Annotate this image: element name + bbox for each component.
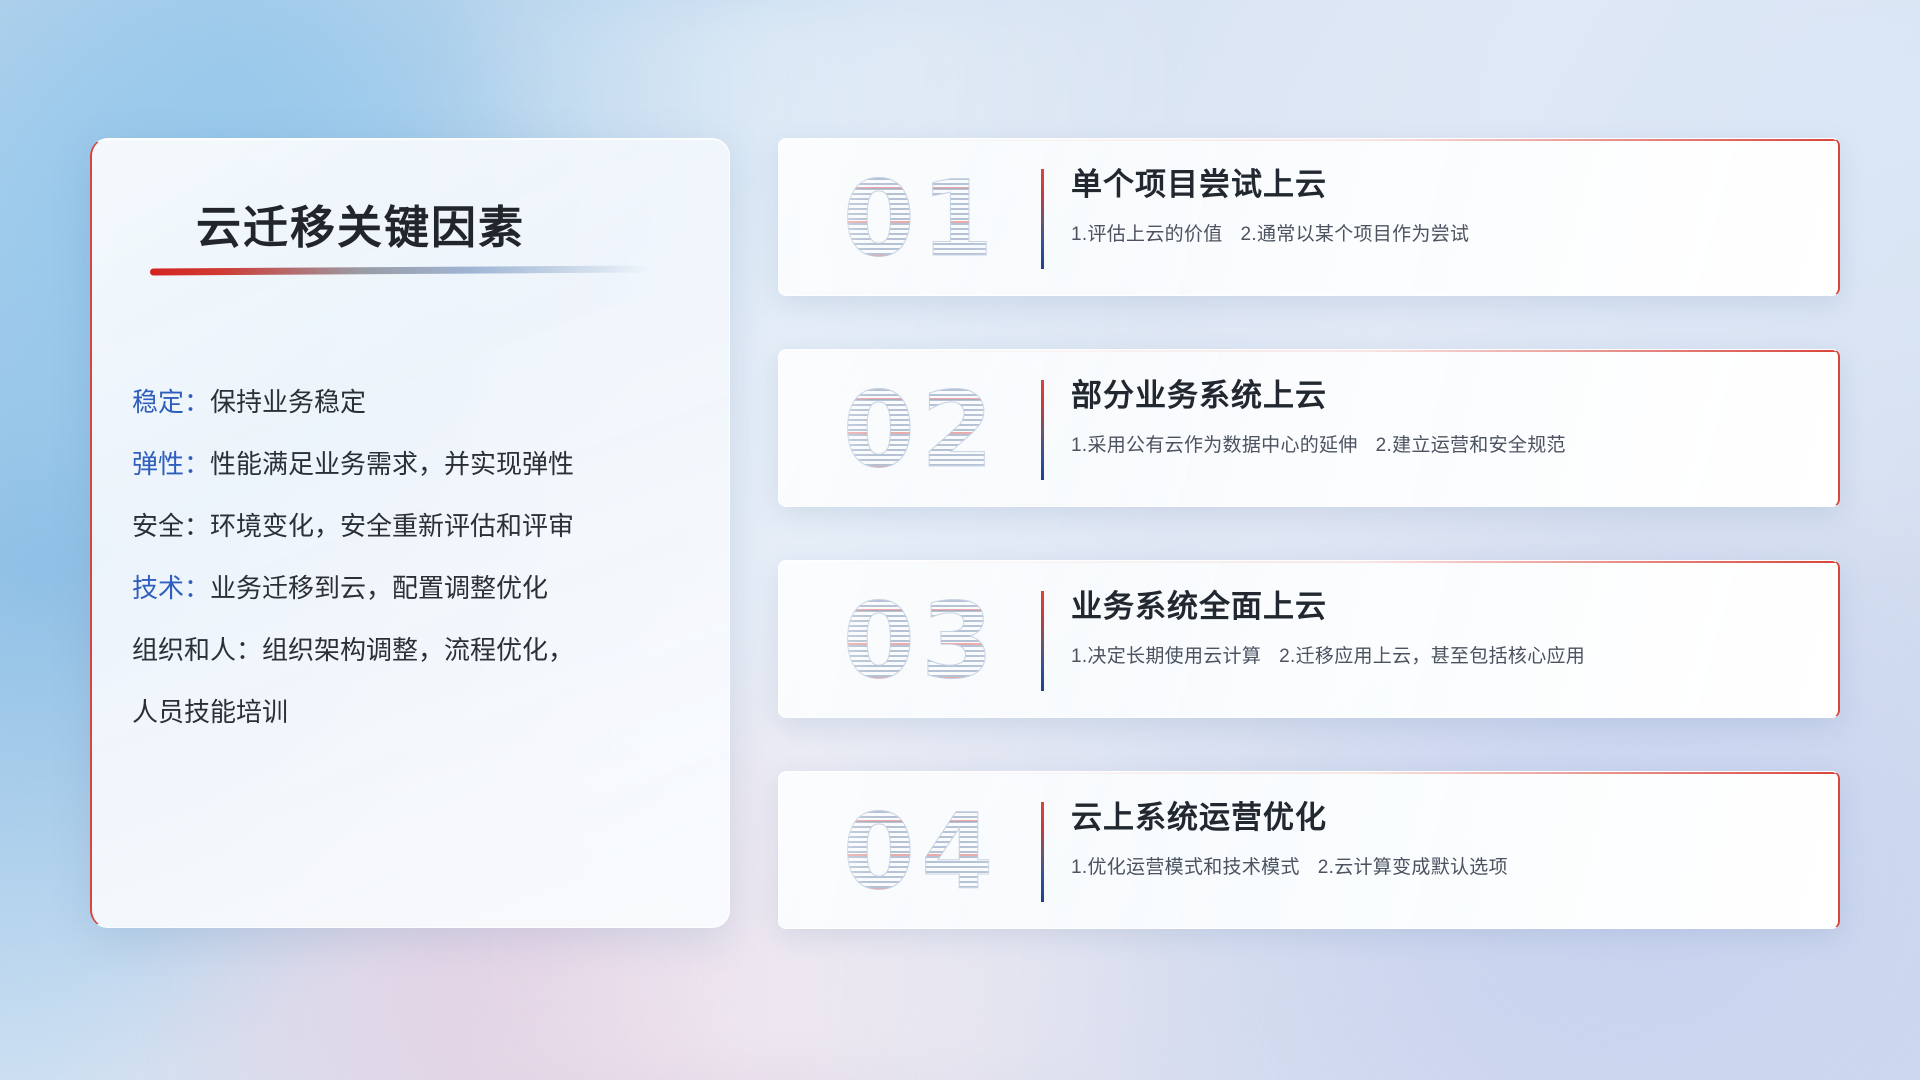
stage-card[interactable]: 0101单个项目尝试上云1.评估上云的价值2.通常以某个项目作为尝试: [778, 138, 1840, 296]
stage-card[interactable]: 0303业务系统全面上云1.决定长期使用云计算2.迁移应用上云，甚至包括核心应用: [778, 560, 1840, 718]
card-subtitle: 1.决定长期使用云计算2.迁移应用上云，甚至包括核心应用: [1071, 641, 1810, 668]
card-point-1: 1.采用公有云作为数据中心的延伸: [1071, 435, 1358, 456]
factor-label: 稳定：: [132, 387, 210, 417]
stage-number: 03: [811, 575, 1031, 707]
card-top-accent-line: [779, 772, 1838, 774]
card-top-accent-line: [779, 561, 1838, 563]
page-title: 云迁移关键因素: [196, 191, 525, 256]
factor-row: 稳定：保持业务稳定: [132, 371, 705, 433]
card-point-2: 2.云计算变成默认选项: [1318, 857, 1508, 878]
card-vertical-divider: [1041, 169, 1044, 269]
card-subtitle: 1.评估上云的价值2.通常以某个项目作为尝试: [1071, 219, 1810, 246]
key-factors-panel: 云迁移关键因素 稳定：保持业务稳定弹性：性能满足业务需求，并实现弹性安全：环境变…: [90, 138, 730, 928]
card-title: 单个项目尝试上云: [1071, 161, 1810, 209]
factor-list: 稳定：保持业务稳定弹性：性能满足业务需求，并实现弹性安全：环境变化，安全重新评估…: [132, 371, 705, 743]
factor-value: 人员技能培训: [132, 697, 288, 727]
factor-label: 弹性：: [132, 449, 210, 479]
factor-value: 组织架构调整，流程优化，: [262, 635, 574, 665]
card-title: 部分业务系统上云: [1071, 372, 1810, 420]
factor-row: 组织和人：组织架构调整，流程优化，: [132, 619, 705, 681]
card-subtitle: 1.优化运营模式和技术模式2.云计算变成默认选项: [1071, 852, 1810, 879]
factor-row: 技术：业务迁移到云，配置调整优化: [132, 557, 705, 619]
card-top-accent-line: [779, 139, 1838, 141]
factor-value: 环境变化，安全重新评估和评审: [210, 511, 574, 541]
stage-card[interactable]: 0202部分业务系统上云1.采用公有云作为数据中心的延伸2.建立运营和安全规范: [778, 349, 1840, 507]
card-vertical-divider: [1041, 380, 1044, 480]
factor-value: 保持业务稳定: [210, 387, 366, 417]
card-point-1: 1.决定长期使用云计算: [1071, 646, 1261, 667]
card-vertical-divider: [1041, 802, 1044, 902]
stage-number: 01: [811, 153, 1031, 285]
card-body: 单个项目尝试上云1.评估上云的价值2.通常以某个项目作为尝试: [1071, 161, 1810, 246]
factor-label: 安全：: [132, 511, 210, 541]
card-body: 部分业务系统上云1.采用公有云作为数据中心的延伸2.建立运营和安全规范: [1071, 372, 1810, 457]
card-point-2: 2.迁移应用上云，甚至包括核心应用: [1279, 646, 1585, 667]
stage-number: 04: [811, 786, 1031, 918]
title-underline-rule: [150, 265, 650, 275]
card-point-1: 1.评估上云的价值: [1071, 224, 1223, 245]
stage-card-list: 0101单个项目尝试上云1.评估上云的价值2.通常以某个项目作为尝试0202部分…: [778, 138, 1840, 982]
card-point-2: 2.建立运营和安全规范: [1376, 435, 1566, 456]
stage-card[interactable]: 0404云上系统运营优化1.优化运营模式和技术模式2.云计算变成默认选项: [778, 771, 1840, 929]
slide-stage: 云迁移关键因素 稳定：保持业务稳定弹性：性能满足业务需求，并实现弹性安全：环境变…: [0, 0, 1920, 1080]
card-point-2: 2.通常以某个项目作为尝试: [1241, 224, 1470, 245]
card-top-accent-line: [779, 350, 1838, 352]
card-subtitle: 1.采用公有云作为数据中心的延伸2.建立运营和安全规范: [1071, 430, 1810, 457]
factor-label: 组织和人：: [132, 635, 262, 665]
card-vertical-divider: [1041, 591, 1044, 691]
factor-label: 技术：: [132, 573, 210, 603]
factor-value: 性能满足业务需求，并实现弹性: [210, 449, 574, 479]
card-title: 云上系统运营优化: [1071, 794, 1810, 842]
factor-row: 安全：环境变化，安全重新评估和评审: [132, 495, 705, 557]
card-body: 业务系统全面上云1.决定长期使用云计算2.迁移应用上云，甚至包括核心应用: [1071, 583, 1810, 668]
card-point-1: 1.优化运营模式和技术模式: [1071, 857, 1300, 878]
card-body: 云上系统运营优化1.优化运营模式和技术模式2.云计算变成默认选项: [1071, 794, 1810, 879]
factor-row: 弹性：性能满足业务需求，并实现弹性: [132, 433, 705, 495]
card-title: 业务系统全面上云: [1071, 583, 1810, 631]
factor-row: 人员技能培训: [132, 681, 705, 743]
stage-number: 02: [811, 364, 1031, 496]
factor-value: 业务迁移到云，配置调整优化: [210, 573, 548, 603]
